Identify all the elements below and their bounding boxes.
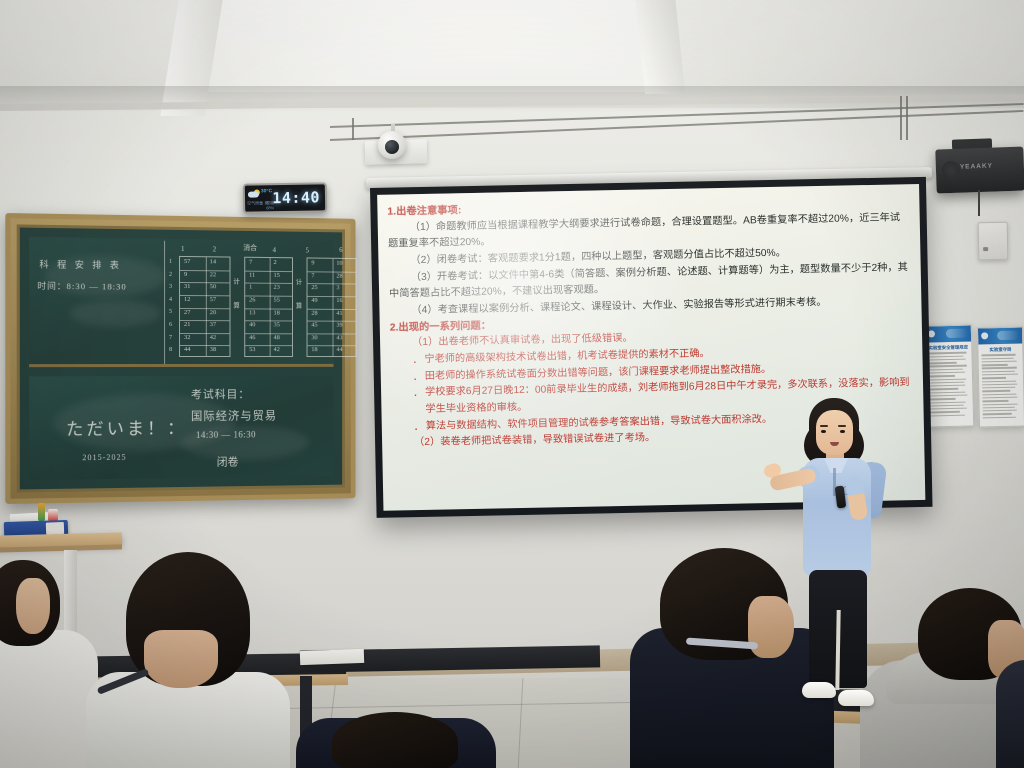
chalk-table-cell: 46 <box>249 334 255 341</box>
poster-body-text <box>925 351 973 420</box>
chalk-table-cell: 55 <box>274 297 280 304</box>
chalk-group-label: 消合 <box>243 243 257 253</box>
chalk-row-number: 6 <box>169 319 172 332</box>
chalk-table-cell: 42 <box>210 334 216 341</box>
chalk-table-cell: 32 <box>184 334 190 341</box>
chalk-table-cell: 41 <box>336 309 342 316</box>
sun-behind-cloud-icon <box>248 189 259 197</box>
presenter-shoe-left <box>802 682 836 698</box>
chalk-table-rule <box>333 259 334 356</box>
camera-lens-icon <box>385 140 399 154</box>
chalk-table-cell: 26 <box>249 296 255 303</box>
exam-time-range: 14:30 — 16:30 <box>196 429 256 439</box>
desk-cup <box>48 509 58 521</box>
digital-wall-clock: 30°C 空气质量 良 湿度 68% 14:40 <box>243 182 328 213</box>
wall-speaker: YEAAKY <box>935 146 1024 193</box>
chalk-table-cell: 50 <box>210 283 216 290</box>
classroom-screenshot: YEAAKY 实验室安全管理规定 实验室守则 <box>0 0 1024 768</box>
wall-poster-safety: 实验室安全管理规定 <box>924 324 974 427</box>
chalk-row-index: 12345678 <box>169 256 172 357</box>
chalk-table-cell: 1 <box>249 284 252 291</box>
chalk-table-cell: 23 <box>274 284 280 291</box>
chalk-side-mark: 计 <box>233 275 239 285</box>
chalk-table-cell: 9 <box>311 259 314 266</box>
chalk-table-cell: 21 <box>184 321 190 328</box>
chalk-table-cell: 15 <box>274 272 280 279</box>
chalk-col-header: 2 <box>213 245 216 253</box>
chalk-row-number: 2 <box>169 268 172 281</box>
chalk-table-cell: 40 <box>249 321 255 328</box>
chalk-table-cell: 44 <box>336 347 342 354</box>
chalk-table-cell: 9 <box>184 271 187 278</box>
blackboard-greeting: ただいま！： <box>66 414 187 440</box>
speaker-cone-icon <box>942 161 961 180</box>
chalk-row-number: 1 <box>169 256 172 269</box>
chalk-row-number: 7 <box>169 332 172 345</box>
poster-logo-icon <box>981 332 988 339</box>
blackboard-upper-half: 科 程 安 排 表 时间：8:30 — 18:30 1 2 消合 4 5 6 5… <box>29 237 333 367</box>
poster-header <box>925 325 971 342</box>
chalk-side-mark: 算 <box>233 299 239 309</box>
speaker-brand-label: YEAAKY <box>960 163 993 171</box>
clock-time-display: 14:40 <box>272 188 325 207</box>
chalk-table-cell: 25 <box>311 284 317 291</box>
chalk-table-cell: 48 <box>274 334 280 341</box>
chalk-table-cell: 30 <box>311 334 317 341</box>
blackboard-note-line1: 科 程 安 排 表 <box>39 257 122 271</box>
chalk-table-cell: 37 <box>210 321 216 328</box>
blackboard-years: 2015-2025 <box>82 453 126 463</box>
chalk-table-cell: 16 <box>336 297 342 304</box>
wire-drop <box>900 96 902 140</box>
blackboard: 科 程 安 排 表 时间：8:30 — 18:30 1 2 消合 4 5 6 5… <box>5 213 355 504</box>
chalk-table-cell: 18 <box>311 347 317 354</box>
chalk-col-header: 4 <box>273 246 276 254</box>
chalk-table-cell: 2 <box>274 259 277 266</box>
chalk-table-cell: 22 <box>210 271 216 278</box>
chalk-table-cell: 38 <box>210 346 216 353</box>
chalk-table-cell: 44 <box>184 346 190 353</box>
exam-type: 闭卷 <box>217 453 239 469</box>
control-box-indicator-icon <box>983 247 988 251</box>
ceiling-panel <box>200 0 670 92</box>
open-notebook <box>300 649 364 665</box>
chalk-table-cell: 57 <box>184 258 190 265</box>
chalk-table-cell: 57 <box>210 296 216 303</box>
wire-drop <box>352 118 354 140</box>
chalk-table-cell: 10 <box>336 260 342 267</box>
clock-detail-right: 湿度 68% <box>266 200 274 211</box>
chalk-table-cell: 49 <box>311 297 317 304</box>
presenter-shoe-right <box>838 690 874 706</box>
chalk-table-rule <box>206 257 207 356</box>
chalk-table-cell: 3 <box>336 285 339 292</box>
chalk-table-cell: 11 <box>249 271 255 278</box>
clock-temperature: 30°C <box>261 188 272 194</box>
chalk-table-rule <box>270 258 271 356</box>
chalk-col-header: 1 <box>181 245 184 253</box>
chalk-table-cell: 28 <box>336 272 342 279</box>
chalk-table-cell: 53 <box>249 346 255 353</box>
chalk-table-left: 5714922315012572720213732424438 <box>179 256 230 357</box>
chalk-row-number: 5 <box>169 306 172 319</box>
chalk-side-mark: 计 <box>296 276 302 286</box>
chalk-col-header: 6 <box>339 246 342 254</box>
chalk-table-right: 91072825349162841453930431844 <box>307 257 357 357</box>
binder-label <box>46 522 64 535</box>
chalk-table-cell: 31 <box>184 283 190 290</box>
chalk-table-cell: 18 <box>274 309 280 316</box>
presenter-mouth <box>830 442 839 446</box>
clock-weather-widget: 30°C 空气质量 良 湿度 68% <box>245 185 273 211</box>
wall-poster-rules: 实验室守则 <box>977 327 1024 428</box>
chalk-table-cell: 14 <box>210 258 216 265</box>
chalk-table-cell: 43 <box>336 334 342 341</box>
speaker-cord <box>978 190 980 216</box>
chalk-table-cell: 39 <box>336 322 342 329</box>
chalk-col-header: 5 <box>306 247 309 255</box>
chalk-table-cell: 28 <box>311 309 317 316</box>
chalk-table-cell: 7 <box>249 259 252 266</box>
chalk-table-middle: 72111512326551318403546485342 <box>244 257 293 357</box>
chalk-table-cell: 27 <box>184 309 190 316</box>
blackboard-note-line2: 时间：8:30 — 18:30 <box>37 280 126 293</box>
chalk-side-mark: 算 <box>296 300 302 310</box>
blackboard-surface: 科 程 安 排 表 时间：8:30 — 18:30 1 2 消合 4 5 6 5… <box>17 224 345 492</box>
wire-drop <box>906 96 908 140</box>
poster-body-text <box>979 353 1024 422</box>
chalk-table-cell: 45 <box>311 322 317 329</box>
chalk-table-cell: 12 <box>184 296 190 303</box>
wall-control-box[interactable] <box>978 222 1009 261</box>
chalk-table-rule <box>308 271 356 272</box>
chalk-table-cell: 13 <box>249 309 255 316</box>
chalk-row-number: 8 <box>169 344 172 357</box>
blackboard-lower-half: 考试科目： 国际经济与贸易 14:30 — 16:30 闭卷 ただいま！： 20… <box>29 376 333 480</box>
chalk-table-rule <box>180 270 229 272</box>
chalk-row-number: 3 <box>169 281 172 294</box>
chalk-table-cell: 7 <box>311 272 314 279</box>
chalk-table-cell: 20 <box>210 309 216 316</box>
exam-heading: 考试科目： <box>191 386 250 402</box>
chalk-table-cell: 42 <box>274 347 280 354</box>
exam-subject: 国际经济与贸易 <box>191 407 277 423</box>
desk-bottle <box>38 503 45 521</box>
poster-header <box>978 328 1022 345</box>
chalk-table-cell: 35 <box>274 322 280 329</box>
chalk-row-number: 4 <box>169 294 172 307</box>
